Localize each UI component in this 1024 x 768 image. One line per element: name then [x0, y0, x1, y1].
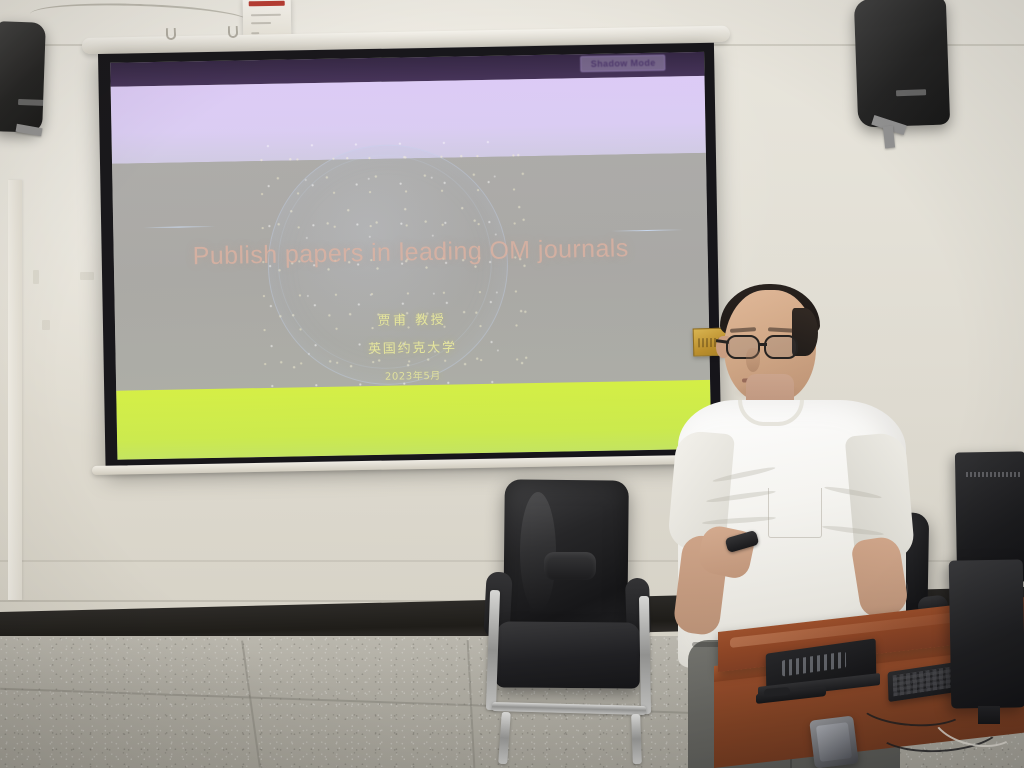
presentation-slide: Publish papers in leading OM journals 贾甫…	[110, 52, 711, 460]
chair-lumbar-pad	[544, 552, 596, 580]
monitor-vent	[966, 472, 1020, 477]
device-line	[251, 14, 281, 17]
nose	[746, 348, 760, 372]
screen-hook-icon	[228, 26, 238, 38]
glasses-bridge	[758, 343, 767, 346]
speaker-badge	[18, 99, 44, 106]
speaker-right-post	[883, 126, 895, 149]
smartphone-screen	[816, 722, 852, 762]
chair-leg-right	[631, 714, 642, 764]
monitor-front[interactable]	[949, 559, 1024, 708]
shirt-pocket	[768, 488, 822, 538]
chair-frame-right	[639, 596, 651, 714]
device-line	[251, 22, 271, 24]
wall-pillar	[8, 180, 22, 600]
screen-hook-icon	[166, 28, 176, 40]
wall-mark	[80, 272, 94, 280]
speaker-right-icon	[854, 0, 950, 128]
lecture-room-photo: Publish papers in leading OM journals 贾甫…	[0, 0, 1024, 768]
projector-screen[interactable]: Publish papers in leading OM journals 贾甫…	[98, 43, 722, 472]
device-red-strip	[249, 1, 285, 7]
wall-mark	[33, 270, 39, 284]
speaker-left-icon	[0, 21, 46, 133]
shadow-mode-badge: Shadow Mode	[581, 55, 666, 73]
glasses-icon	[764, 335, 798, 359]
wall-mark	[42, 320, 50, 330]
chair-seat	[496, 621, 641, 688]
speaker-badge	[896, 89, 926, 96]
slide-green-band	[116, 379, 711, 459]
